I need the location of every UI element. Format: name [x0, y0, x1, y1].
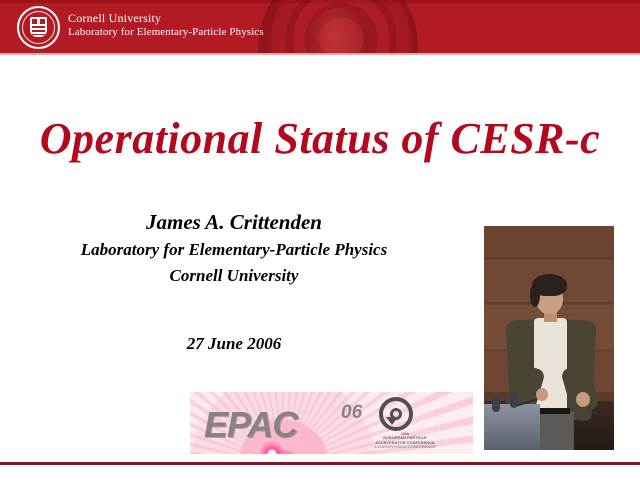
presentation-date: 27 June 2006: [0, 334, 468, 354]
photo-hand-left: [536, 388, 548, 401]
seal-shield: [30, 17, 47, 37]
header-bottom-line: [0, 53, 640, 55]
photo-microphone-1: [492, 396, 500, 412]
page-title: Operational Status of CESR-c: [0, 113, 640, 164]
presentation-title-slide: Cornell University Laboratory for Elemen…: [0, 0, 640, 480]
epac-circular-arrows-icon: [379, 397, 413, 431]
author-name: James A. Crittenden: [0, 207, 468, 237]
header-department: Laboratory for Elementary-Particle Physi…: [68, 25, 264, 39]
epac-year: 06: [341, 402, 362, 424]
header-text-block: Cornell University Laboratory for Elemen…: [68, 11, 264, 39]
photo-microphone-2: [510, 392, 518, 408]
epac-wordmark: EPAC: [204, 404, 297, 446]
seal-shield-bars: [32, 26, 45, 35]
header-band: Cornell University Laboratory for Elemen…: [0, 0, 640, 55]
photo-hand-right: [576, 392, 590, 407]
affiliation-line-1: Laboratory for Elementary-Particle Physi…: [0, 237, 468, 263]
header-institution: Cornell University: [68, 11, 264, 25]
affiliation-line-2: Cornell University: [0, 263, 468, 289]
photo-hair-side: [530, 283, 540, 307]
cornell-seal-icon: [17, 6, 60, 49]
epac-subtitle-block: 10th EUROPEAN PARTICLE ACCELERATOR CONFE…: [350, 432, 460, 450]
footer-rule: [0, 462, 640, 465]
medallion-watermark-icon: [258, 0, 418, 55]
speaker-photo: [484, 226, 614, 450]
byline-block: James A. Crittenden Laboratory for Eleme…: [0, 207, 468, 289]
epac-subtitle-line-4: A EUROPHYSICS CONFERENCE: [350, 445, 460, 449]
epac-logo: EPAC 06 10th EUROPEAN PARTICLE ACCELERAT…: [190, 392, 473, 454]
